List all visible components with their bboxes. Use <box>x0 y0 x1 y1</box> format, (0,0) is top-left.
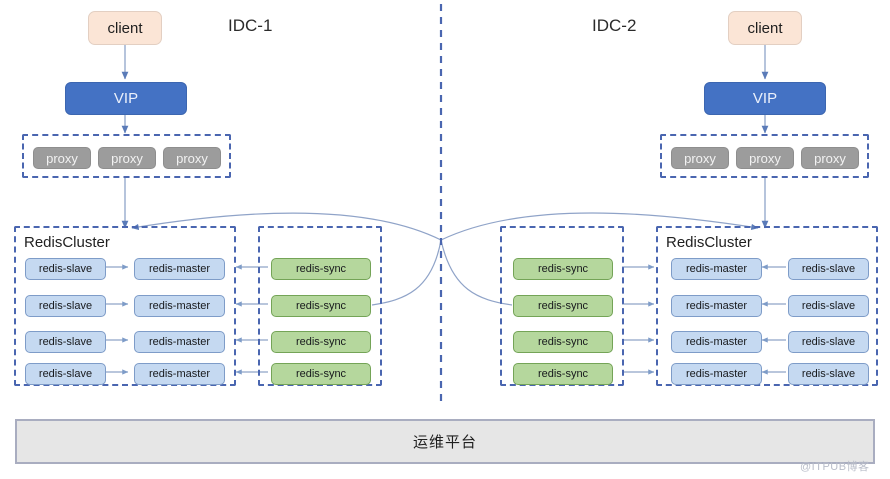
idc2-redis-sync-1[interactable]: redis-sync <box>513 258 613 280</box>
idc1-redis-sync-4[interactable]: redis-sync <box>271 363 371 385</box>
idc2-redis-sync-4[interactable]: redis-sync <box>513 363 613 385</box>
idc2-redis-sync-group: redis-sync redis-sync redis-sync redis-s… <box>500 226 624 386</box>
idc1-redis-master-1[interactable]: redis-master <box>134 258 225 280</box>
idc1-client-node[interactable]: client <box>88 11 162 45</box>
idc2-cluster-title: RedisCluster <box>666 234 752 251</box>
idc1-redis-sync-2[interactable]: redis-sync <box>271 295 371 317</box>
idc1-vip-node[interactable]: VIP <box>65 82 187 115</box>
idc1-rediscluster-group: RedisCluster redis-slave redis-master re… <box>14 226 236 386</box>
idc1-redis-slave-3[interactable]: redis-slave <box>25 331 106 353</box>
watermark: @ITPUB博客 <box>800 458 870 474</box>
idc2-rediscluster-group: RedisCluster redis-master redis-slave re… <box>656 226 878 386</box>
idc2-redis-slave-3[interactable]: redis-slave <box>788 331 869 353</box>
idc2-redis-master-1[interactable]: redis-master <box>671 258 762 280</box>
idc1-redis-master-2[interactable]: redis-master <box>134 295 225 317</box>
idc2-proxy-node-2[interactable]: proxy <box>736 147 794 169</box>
idc2-proxy-node-1[interactable]: proxy <box>671 147 729 169</box>
idc1-proxy-node-3[interactable]: proxy <box>163 147 221 169</box>
idc1-redis-slave-1[interactable]: redis-slave <box>25 258 106 280</box>
idc1-redis-sync-3[interactable]: redis-sync <box>271 331 371 353</box>
idc2-redis-sync-2[interactable]: redis-sync <box>513 295 613 317</box>
idc1-proxy-node-2[interactable]: proxy <box>98 147 156 169</box>
idc2-label: IDC-2 <box>592 16 636 36</box>
idc2-client-node[interactable]: client <box>728 11 802 45</box>
idc1-redis-slave-4[interactable]: redis-slave <box>25 363 106 385</box>
idc2-redis-master-4[interactable]: redis-master <box>671 363 762 385</box>
idc1-redis-slave-2[interactable]: redis-slave <box>25 295 106 317</box>
idc2-redis-slave-4[interactable]: redis-slave <box>788 363 869 385</box>
idc1-label: IDC-1 <box>228 16 272 36</box>
idc2-proxy-node-3[interactable]: proxy <box>801 147 859 169</box>
idc1-redis-master-3[interactable]: redis-master <box>134 331 225 353</box>
idc2-redis-master-2[interactable]: redis-master <box>671 295 762 317</box>
idc1-redis-sync-group: redis-sync redis-sync redis-sync redis-s… <box>258 226 382 386</box>
idc2-redis-sync-3[interactable]: redis-sync <box>513 331 613 353</box>
idc2-vip-node[interactable]: VIP <box>704 82 826 115</box>
idc2-redis-master-3[interactable]: redis-master <box>671 331 762 353</box>
idc2-proxy-group: proxy proxy proxy <box>660 134 869 178</box>
idc1-proxy-group: proxy proxy proxy <box>22 134 231 178</box>
idc1-proxy-node-1[interactable]: proxy <box>33 147 91 169</box>
ops-platform-bar: 运维平台 <box>15 419 875 464</box>
idc1-cluster-title: RedisCluster <box>24 234 110 251</box>
architecture-diagram: IDC-1 client VIP proxy proxy proxy Redis… <box>0 0 890 479</box>
idc1-redis-sync-1[interactable]: redis-sync <box>271 258 371 280</box>
idc1-redis-master-4[interactable]: redis-master <box>134 363 225 385</box>
idc2-redis-slave-1[interactable]: redis-slave <box>788 258 869 280</box>
idc2-redis-slave-2[interactable]: redis-slave <box>788 295 869 317</box>
